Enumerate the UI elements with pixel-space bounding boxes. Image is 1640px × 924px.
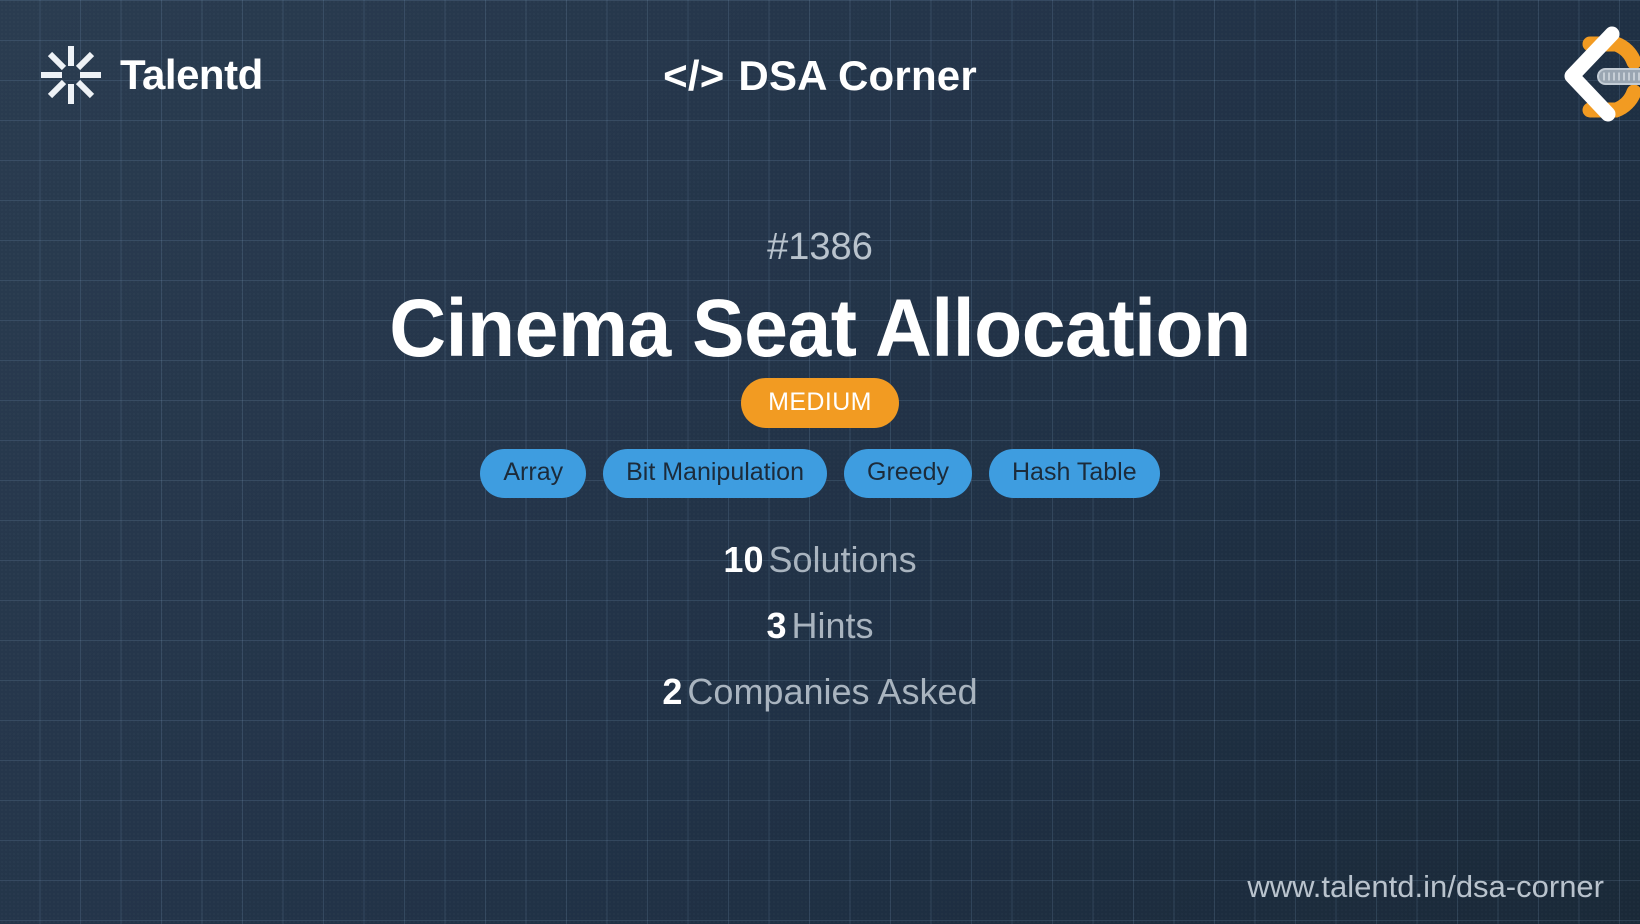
footer-url[interactable]: www.talentd.in/dsa-corner: [1247, 871, 1604, 902]
stat-companies-asked: 2Companies Asked: [0, 674, 1640, 710]
chevron-c-logo-icon: [1546, 18, 1640, 136]
page-title-text: DSA Corner: [738, 52, 976, 99]
card-header: Talentd </>DSA Corner: [0, 0, 1640, 155]
stat-value: 2: [662, 671, 682, 712]
topic-tag[interactable]: Greedy: [844, 449, 972, 498]
dsa-corner-problem-card: Talentd </>DSA Corner: [0, 0, 1640, 924]
stat-solutions: 10Solutions: [0, 542, 1640, 578]
topic-tag[interactable]: Bit Manipulation: [603, 449, 827, 498]
stat-label: Solutions: [768, 539, 916, 580]
problem-number: #1386: [0, 228, 1640, 266]
stat-label: Hints: [792, 605, 874, 646]
stat-hints: 3Hints: [0, 608, 1640, 644]
topic-tag[interactable]: Array: [480, 449, 586, 498]
difficulty-badge: MEDIUM: [741, 378, 899, 428]
stat-value: 10: [723, 539, 763, 580]
problem-stats: 10Solutions 3Hints 2Companies Asked: [0, 542, 1640, 710]
difficulty-row: MEDIUM: [0, 378, 1640, 428]
problem-hero: #1386 Cinema Seat Allocation MEDIUM Arra…: [0, 228, 1640, 710]
topic-tag-list: Array Bit Manipulation Greedy Hash Table: [0, 449, 1640, 498]
stat-label: Companies Asked: [687, 671, 977, 712]
code-brackets-icon: </>: [663, 52, 724, 100]
problem-title: Cinema Seat Allocation: [33, 288, 1607, 370]
stat-value: 3: [766, 605, 786, 646]
page-title: </>DSA Corner: [0, 52, 1640, 100]
topic-tag[interactable]: Hash Table: [989, 449, 1160, 498]
